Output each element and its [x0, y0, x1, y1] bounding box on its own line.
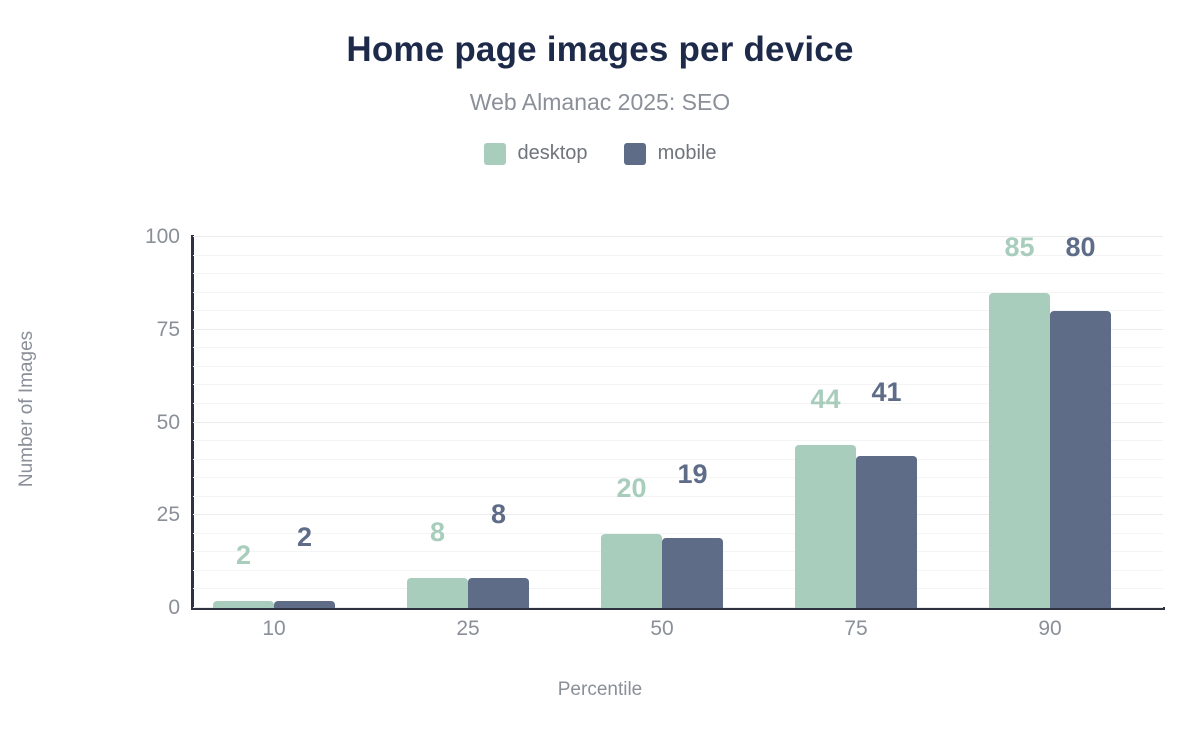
page-title: Home page images per device [0, 30, 1200, 70]
y-tick-label: 50 [120, 411, 180, 435]
legend-item-desktop[interactable]: desktop [484, 142, 588, 165]
x-axis-tick-labels: 1025507590 [193, 617, 1163, 651]
bar-value-label-mobile-50: 19 [677, 461, 707, 488]
bar-value-label-desktop-90: 85 [1004, 234, 1034, 261]
y-axis-title: Number of Images [16, 259, 38, 559]
legend-swatch-desktop [484, 143, 506, 165]
bar-value-label-mobile-75: 41 [871, 379, 901, 406]
bar-desktop-75[interactable] [795, 445, 856, 608]
x-tick-label-90: 90 [1038, 617, 1061, 641]
bar-desktop-50[interactable] [601, 534, 662, 608]
legend-label: mobile [658, 142, 717, 165]
chart-legend: desktopmobile [0, 142, 1200, 165]
bar-value-label-desktop-25: 8 [430, 519, 445, 546]
y-tick-label: 0 [120, 596, 180, 620]
bar-mobile-50[interactable] [662, 538, 723, 608]
x-tick-label-25: 25 [456, 617, 479, 641]
chart-subtitle: Web Almanac 2025: SEO [0, 89, 1200, 116]
bar-value-label-mobile-10: 2 [297, 524, 312, 551]
y-tick-label: 25 [120, 503, 180, 527]
y-axis-tick-labels: 0255075100 [118, 237, 180, 608]
x-axis-title: Percentile [0, 679, 1200, 701]
legend-swatch-mobile [624, 143, 646, 165]
x-tick-label-10: 10 [262, 617, 285, 641]
y-tick-label: 75 [120, 318, 180, 342]
bar-mobile-25[interactable] [468, 578, 529, 608]
bar-value-label-desktop-10: 2 [236, 542, 251, 569]
bar-value-label-mobile-25: 8 [491, 501, 506, 528]
legend-label: desktop [518, 142, 588, 165]
plot-area: 2288201944418580 [193, 237, 1163, 608]
y-tick-label: 100 [120, 225, 180, 249]
bar-mobile-75[interactable] [856, 456, 917, 608]
x-tick-label-50: 50 [650, 617, 673, 641]
bar-mobile-10[interactable] [274, 601, 335, 608]
bar-mobile-90[interactable] [1050, 311, 1111, 608]
bar-value-label-desktop-50: 20 [616, 475, 646, 502]
bar-desktop-90[interactable] [989, 293, 1050, 608]
bar-desktop-10[interactable] [213, 601, 274, 608]
chart-container: Home page images per device Web Almanac … [0, 0, 1200, 742]
x-tick-label-75: 75 [844, 617, 867, 641]
legend-item-mobile[interactable]: mobile [624, 142, 717, 165]
bar-value-label-mobile-90: 80 [1065, 234, 1095, 261]
bar-desktop-25[interactable] [407, 578, 468, 608]
gridline-minor [193, 273, 1163, 274]
bar-value-label-desktop-75: 44 [810, 386, 840, 413]
